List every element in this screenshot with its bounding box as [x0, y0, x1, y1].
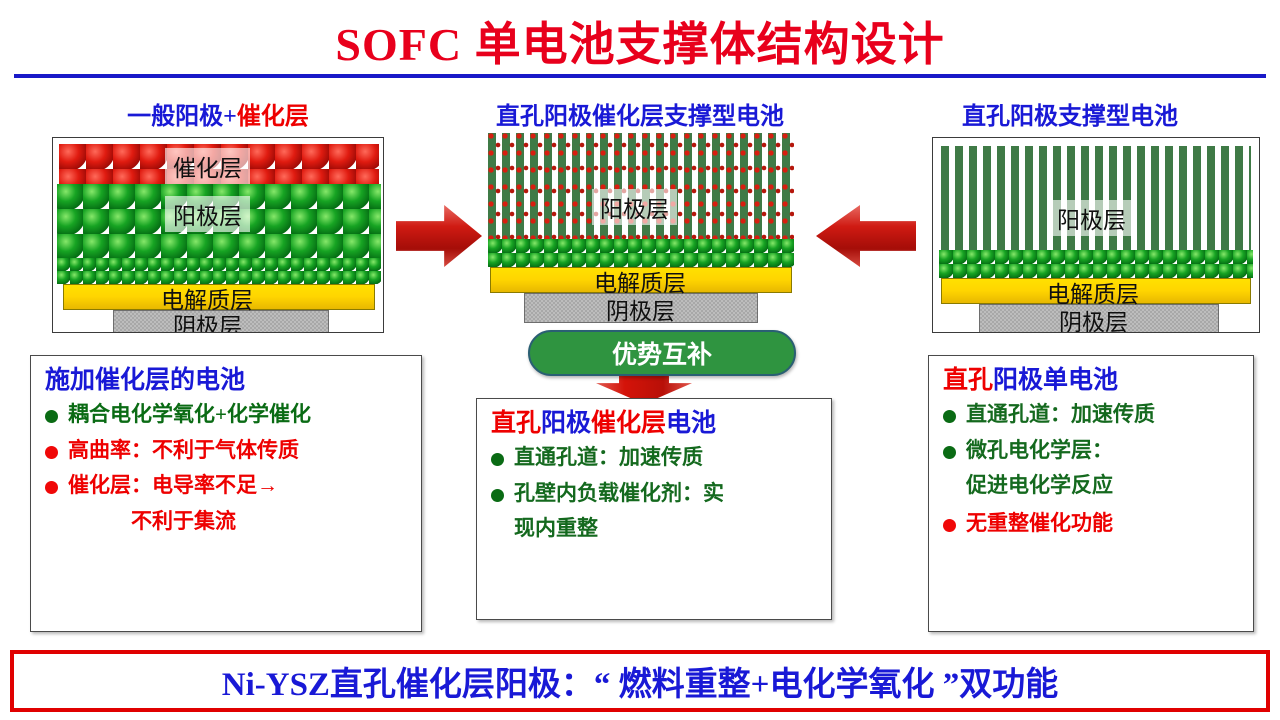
bullet-text: 无重整催化功能	[966, 511, 1113, 537]
label-cathode: 阴极层	[165, 306, 250, 332]
label-cathode: 阴极层	[598, 291, 683, 327]
bullet-text: 耦合电化学氧化+化学催化	[68, 402, 311, 428]
slide-root: SOFC 单电池支撑体结构设计 一般阳极+催化层 催化层 阳极层 电解质层 阴极…	[0, 0, 1280, 720]
right-panel-heading: 直孔阳极单电池	[943, 366, 1241, 396]
right-cell-diagram: 阳极层 电解质层 阴极层	[932, 137, 1260, 333]
left-diagram-heading: 一般阳极+催化层	[48, 96, 388, 131]
left-panel-heading: 施加催化层的电池	[45, 366, 409, 396]
bullet-dot-icon	[943, 410, 956, 423]
label-cathode: 阴极层	[1051, 302, 1136, 332]
left-text-panel: 施加催化层的电池 耦合电化学氧化+化学催化 高曲率：不利于气体传质 催化层：电导…	[30, 355, 422, 632]
bullet-text: 孔壁内负载催化剂：实	[514, 481, 724, 507]
heading-seg-1: 直孔	[943, 367, 993, 394]
label-anode: 阳极层	[592, 189, 677, 225]
heading-seg-2: 阳极	[541, 410, 591, 437]
label-anode: 阳极层	[1049, 200, 1134, 236]
left-heading-part2: 催化层	[237, 104, 309, 130]
footer-text: Ni-YSZ直孔催化层阳极：“ 燃料重整+电化学氧化 ”双功能	[222, 657, 1059, 705]
bullet-text: 微孔电化学层：	[966, 438, 1113, 464]
right-text-panel: 直孔阳极单电池 直通孔道：加速传质 微孔电化学层： 促进电化学反应 无重整催化功…	[928, 355, 1254, 632]
bullet-text: 直通孔道：加速传质	[514, 445, 703, 471]
left-heading-part1: 一般阳极+	[127, 104, 237, 130]
heading-seg-3: 催化层	[591, 410, 666, 437]
bullet-text: 直通孔道：加速传质	[966, 402, 1155, 428]
left-cell-stack: 催化层 阳极层 电解质层 阴极层	[53, 138, 383, 332]
list-item: 高曲率：不利于气体传质	[45, 438, 409, 464]
label-anode: 阳极层	[165, 196, 250, 232]
label-catalyst: 催化层	[165, 148, 250, 184]
center-panel-bullets: 直通孔道：加速传质 孔壁内负载催化剂：实	[491, 445, 819, 506]
bullet-dot-icon	[491, 453, 504, 466]
bullet-dot-icon	[491, 489, 504, 502]
footer-banner: Ni-YSZ直孔催化层阳极：“ 燃料重整+电化学氧化 ”双功能	[10, 650, 1270, 712]
bullet-dot-icon	[45, 410, 58, 423]
bullet-text: 催化层：电导率不足→	[68, 473, 278, 499]
bullet-dot-icon	[45, 481, 58, 494]
list-item: 直通孔道：加速传质	[491, 445, 819, 471]
pore-columns	[941, 146, 1251, 252]
bullet-text: 高曲率：不利于气体传质	[68, 438, 299, 464]
right-cell-stack: 阳极层 电解质层 阴极层	[933, 138, 1259, 332]
list-item: 直通孔道：加速传质	[943, 402, 1241, 428]
right-panel-continuation: 促进电化学反应	[966, 473, 1241, 499]
badge-label: 优势互补	[612, 335, 712, 371]
title-divider	[14, 74, 1266, 78]
center-diagram-heading: 直孔阳极催化层支撑型电池	[450, 96, 830, 131]
heading-seg-1: 直孔	[491, 410, 541, 437]
arrow-left-icon	[816, 205, 916, 267]
heading-seg-2: 阳极单电池	[993, 367, 1118, 394]
right-panel-bullets-last: 无重整催化功能	[943, 511, 1241, 537]
center-panel-continuation: 现内重整	[514, 516, 819, 542]
list-item: 微孔电化学层：	[943, 438, 1241, 464]
page-title: SOFC 单电池支撑体结构设计	[0, 8, 1280, 74]
list-item: 催化层：电导率不足→	[45, 473, 409, 499]
list-item: 耦合电化学氧化+化学催化	[45, 402, 409, 428]
bullet-dot-icon	[943, 519, 956, 532]
right-panel-bullets: 直通孔道：加速传质 微孔电化学层：	[943, 402, 1241, 463]
center-cell-diagram: 阳极层 电解质层 阴极层	[488, 133, 794, 323]
right-diagram-heading: 直孔阳极支撑型电池	[900, 96, 1240, 131]
left-panel-bullets: 耦合电化学氧化+化学催化 高曲率：不利于气体传质 催化层：电导率不足→	[45, 402, 409, 499]
list-item: 无重整催化功能	[943, 511, 1241, 537]
left-panel-continuation: 不利于集流	[131, 509, 409, 535]
bullet-dot-icon	[45, 446, 58, 459]
center-text-panel: 直孔阳极催化层电池 直通孔道：加速传质 孔壁内负载催化剂：实 现内重整	[476, 398, 832, 620]
arrow-right-icon	[396, 205, 482, 267]
bullet-dot-icon	[943, 446, 956, 459]
center-panel-heading: 直孔阳极催化层电池	[491, 409, 819, 439]
heading-seg-4: 电池	[666, 410, 716, 437]
left-cell-diagram: 催化层 阳极层 电解质层 阴极层	[52, 137, 384, 333]
list-item: 孔壁内负载催化剂：实	[491, 481, 819, 507]
status-badge: 优势互补	[528, 330, 796, 376]
